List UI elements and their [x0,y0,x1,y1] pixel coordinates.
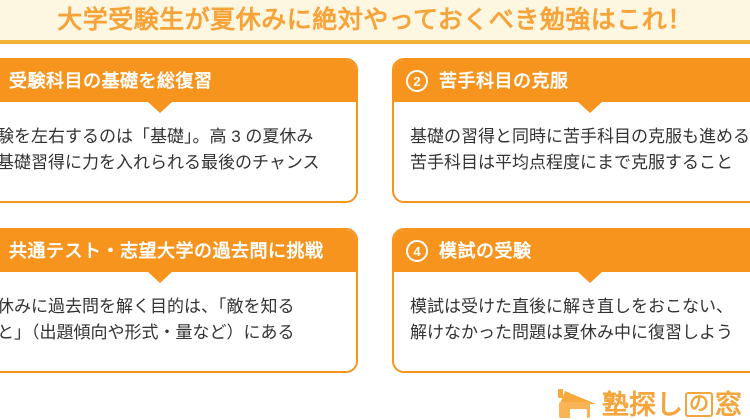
tip-card-3-body-line-1: 夏休みに過去問を解く目的は、「敵を知る [0,294,340,320]
tip-card-1-title: 受験科目の基礎を総復習 [9,72,213,90]
site-logo-text-boxed: の [685,392,713,417]
tip-card-3-body: 夏休みに過去問を解く目的は、「敵を知る こと」（出題傾向や形式・量など）にある [0,272,356,347]
tip-card-3-header: 3 共通テスト・志望大学の過去問に挑戦 [0,230,356,272]
tip-card-3-body-line-2: こと」（出題傾向や形式・量など）にある [0,320,340,346]
tip-card-1-notch-icon [148,102,172,113]
house-icon [556,389,596,419]
tip-card-1-body-line-2: は基礎習得に力を入れられる最後のチャンス [0,150,340,176]
tip-card-3[interactable]: 3 共通テスト・志望大学の過去問に挑戦 夏休みに過去問を解く目的は、「敵を知る … [0,228,358,373]
tip-card-4-body-line-2: 解けなかった問題は夏休み中に復習しよう [410,320,750,346]
tip-card-2-body: 基礎の習得と同時に苦手科目の克服も進める 苦手科目は平均点程度にまで克服すること [394,102,750,177]
tip-card-1[interactable]: 1 受験科目の基礎を総復習 受験を左右するのは「基礎」。高 3 の夏休み は基礎… [0,58,358,203]
tip-card-3-notch-icon [148,272,172,283]
tip-card-4-notch-icon [578,272,602,283]
tip-card-2-body-line-1: 基礎の習得と同時に苦手科目の克服も進める [410,124,750,150]
tip-card-1-body: 受験を左右するのは「基礎」。高 3 の夏休み は基礎習得に力を入れられる最後のチ… [0,102,356,177]
site-logo-text: 塾探しの窓 [602,392,742,419]
tip-card-2-body-line-2: 苦手科目は平均点程度にまで克服すること [410,150,750,176]
tip-card-1-body-line-1: 受験を左右するのは「基礎」。高 3 の夏休み [0,124,340,150]
tip-card-1-header: 1 受験科目の基礎を総復習 [0,60,356,102]
page-header-banner: 大学受験生が夏休みに絶対やっておくべき勉強はこれ！ [0,0,750,44]
tip-card-2[interactable]: 2 苦手科目の克服 基礎の習得と同時に苦手科目の克服も進める 苦手科目は平均点程… [392,58,750,203]
page-title: 大学受験生が夏休みに絶対やっておくべき勉強はこれ！ [57,8,693,33]
tip-card-2-title: 苦手科目の克服 [439,72,569,90]
tip-card-4-number-badge: 4 [406,240,428,262]
tip-card-4-title: 模試の受験 [439,242,532,260]
tip-card-2-notch-icon [578,102,602,113]
tips-card-grid: 1 受験科目の基礎を総復習 受験を左右するのは「基礎」。高 3 の夏休み は基礎… [0,58,750,398]
tip-card-4[interactable]: 4 模試の受験 模試は受けた直後に解き直しをおこない、 解けなかった問題は夏休み… [392,228,750,373]
tip-card-2-header: 2 苦手科目の克服 [394,60,750,102]
tip-card-2-number-badge: 2 [406,70,428,92]
card-row-1: 1 受験科目の基礎を総復習 受験を左右するのは「基礎」。高 3 の夏休み は基礎… [0,58,750,203]
site-logo[interactable]: 塾探しの窓 [556,389,742,419]
tip-card-4-body-line-1: 模試は受けた直後に解き直しをおこない、 [410,294,750,320]
site-logo-text-tail: 窓 [715,390,742,420]
tip-card-4-body: 模試は受けた直後に解き直しをおこない、 解けなかった問題は夏休み中に復習しよう [394,272,750,347]
site-logo-text-main: 塾探し [602,390,683,420]
card-row-2: 3 共通テスト・志望大学の過去問に挑戦 夏休みに過去問を解く目的は、「敵を知る … [0,228,750,373]
tip-card-3-title: 共通テスト・志望大学の過去問に挑戦 [9,242,324,260]
tip-card-4-header: 4 模試の受験 [394,230,750,272]
